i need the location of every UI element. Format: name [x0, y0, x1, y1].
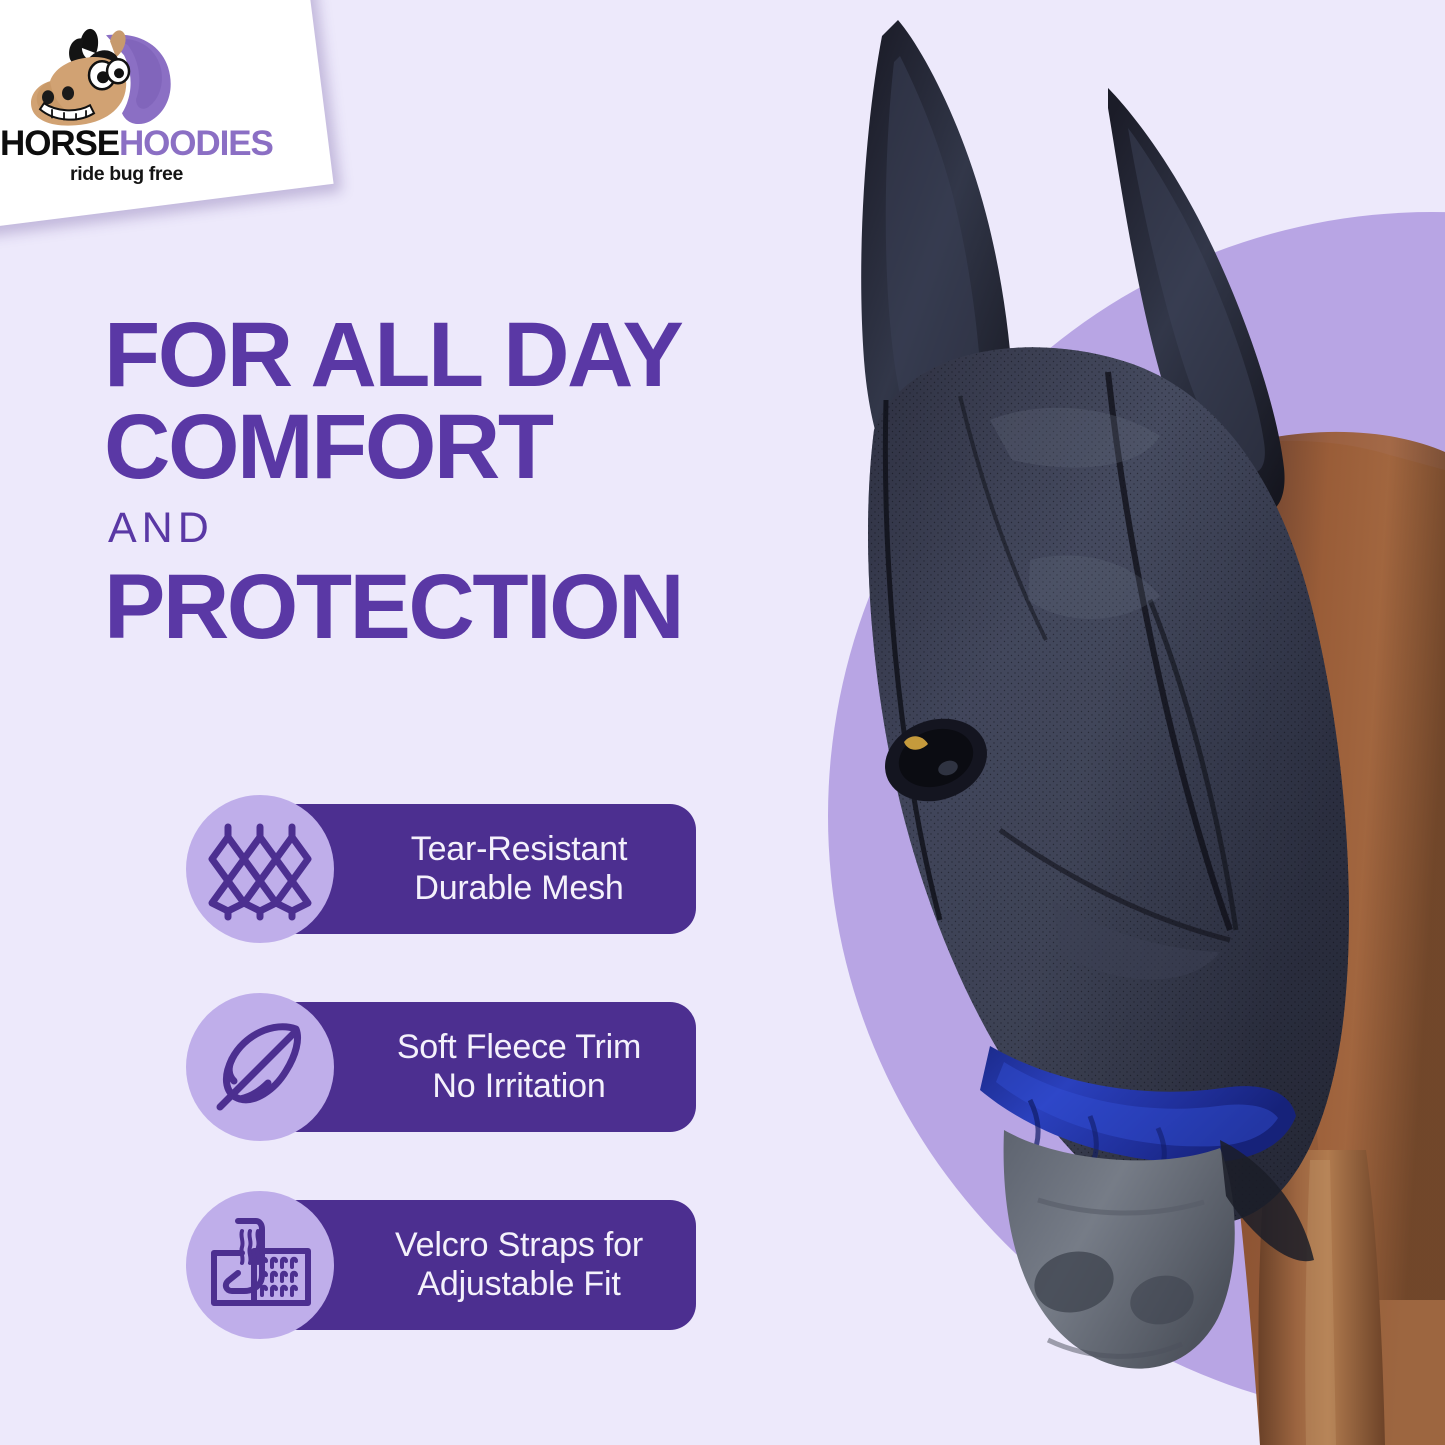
brand-wordmark-part1: HORSE: [0, 124, 119, 163]
feature-label-line1: Velcro Straps for: [395, 1226, 643, 1264]
feature-list: Tear-Resistant Durable Mesh: [186, 795, 726, 1339]
feature-label: Velcro Straps for Adjustable Fit: [395, 1226, 643, 1305]
feature-item: Velcro Straps for Adjustable Fit: [186, 1191, 726, 1339]
brand-wordmark: HORSEHOODIES: [0, 121, 270, 167]
feature-item: Soft Fleece Trim No Irritation: [186, 993, 726, 1141]
headline-line-3-and: AND: [108, 507, 834, 550]
headline-line-1: FOR ALL DAY: [104, 312, 834, 398]
feature-item: Tear-Resistant Durable Mesh: [186, 795, 726, 943]
product-photo: [790, 0, 1445, 1445]
feature-label-line1: Tear-Resistant: [411, 830, 627, 868]
feature-pill: Tear-Resistant Durable Mesh: [272, 804, 696, 934]
feature-label-line2: No Irritation: [397, 1067, 641, 1106]
brand-logo-card: HORSEHOODIES ride bug free: [0, 0, 334, 230]
feature-label-line2: Durable Mesh: [411, 869, 627, 908]
marketing-banner: HORSEHOODIES ride bug free FOR ALL DAY C…: [0, 0, 1445, 1445]
headline-line-4: PROTECTION: [104, 564, 834, 650]
feature-label-line1: Soft Fleece Trim: [397, 1028, 641, 1066]
cartoon-horse-head-with-hood-icon: [10, 25, 190, 130]
feature-label: Tear-Resistant Durable Mesh: [411, 830, 627, 909]
feather-icon: [186, 993, 334, 1141]
feature-label-line2: Adjustable Fit: [395, 1265, 643, 1304]
velcro-strap-icon: [186, 1191, 334, 1339]
feature-pill: Velcro Straps for Adjustable Fit: [272, 1200, 696, 1330]
feature-label: Soft Fleece Trim No Irritation: [397, 1028, 641, 1107]
brand-tagline: ride bug free: [70, 163, 183, 186]
brand-wordmark-part2: HOODIES: [119, 124, 273, 163]
feature-pill: Soft Fleece Trim No Irritation: [272, 1002, 696, 1132]
mesh-lattice-icon: [186, 795, 334, 943]
headline-block: FOR ALL DAY COMFORT AND PROTECTION: [104, 312, 834, 650]
headline-line-2: COMFORT: [104, 404, 834, 490]
